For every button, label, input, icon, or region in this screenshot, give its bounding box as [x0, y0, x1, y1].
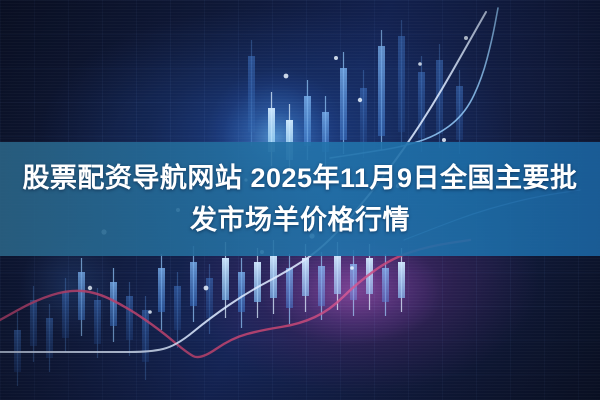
headline-line-1: 股票配资导航网站 2025年11月9日全国主要批	[22, 157, 577, 199]
headline-text-block: 股票配资导航网站 2025年11月9日全国主要批 发市场羊价格行情	[0, 142, 600, 256]
banner-image: 股票配资导航网站 2025年11月9日全国主要批 发市场羊价格行情	[0, 0, 600, 400]
headline-line-2: 发市场羊价格行情	[190, 199, 410, 241]
